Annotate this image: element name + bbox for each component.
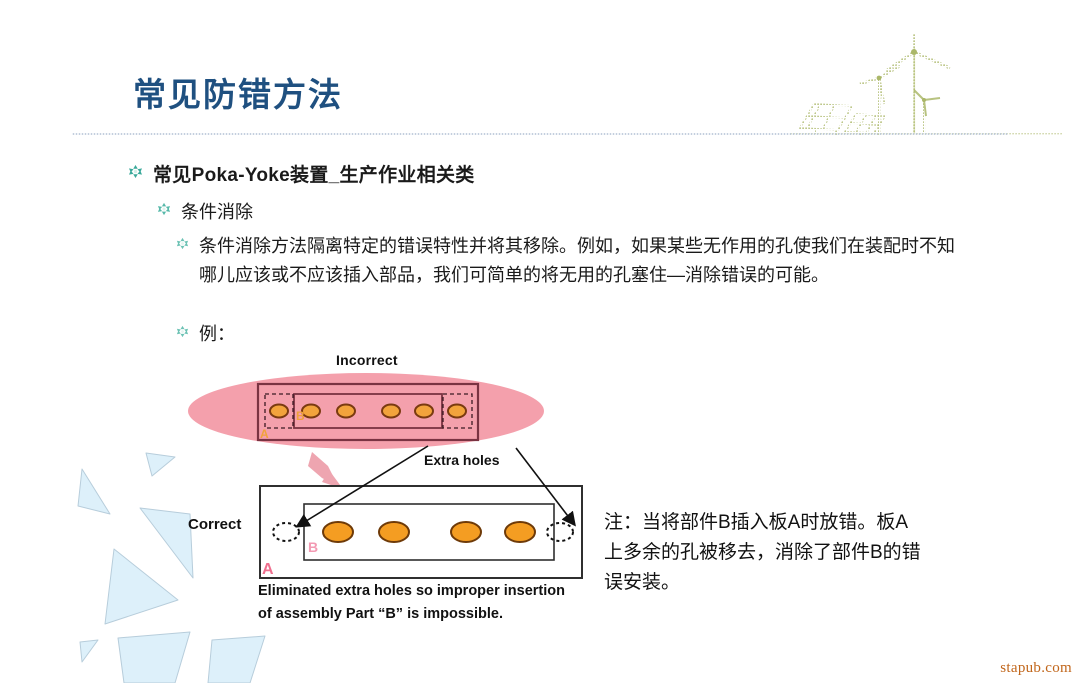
flower-bullet-icon bbox=[157, 202, 171, 216]
title-divider bbox=[72, 133, 1008, 135]
bullet-level1-label: 常见Poka-Yoke装置_生产作业相关类 bbox=[153, 160, 475, 187]
wind-turbine-solar-panel-icon bbox=[790, 28, 1070, 140]
figure-caption-line2: of assembly Part “B” is impossible. bbox=[258, 603, 598, 626]
bullet-level3-example: 例： bbox=[176, 320, 235, 346]
bullet-level2-label: 条件消除 bbox=[181, 198, 253, 224]
correct-label: Correct bbox=[188, 516, 241, 533]
figure-caption-line1: Eliminated extra holes so improper inser… bbox=[258, 580, 598, 603]
watermark: stapub.com bbox=[1000, 660, 1072, 677]
correct-part-b-label: B bbox=[308, 539, 318, 555]
correct-plate-a-label: A bbox=[262, 561, 274, 578]
page-title: 常见防错方法 bbox=[133, 68, 343, 116]
flower-bullet-icon bbox=[176, 325, 189, 338]
flower-bullet-icon bbox=[176, 237, 189, 250]
bullet-level3-text: 条件消除方法隔离特定的错误特性并将其移除。例如，如果某些无作用的孔使我们在装配时… bbox=[199, 232, 966, 290]
slide-canvas: 常见防错方法 bbox=[0, 0, 1080, 683]
bullet-level1: 常见Poka-Yoke装置_生产作业相关类 bbox=[128, 160, 475, 187]
bullet-level3-paragraph: 条件消除方法隔离特定的错误特性并将其移除。例如，如果某些无作用的孔使我们在装配时… bbox=[176, 232, 966, 290]
incorrect-part-b-label: B bbox=[296, 409, 305, 423]
extra-holes-label: Extra holes bbox=[424, 452, 499, 468]
chinese-note: 注：当将部件B插入板A时放错。板A上多余的孔被移去，消除了部件B的错误安装。 bbox=[604, 508, 924, 598]
pink-down-arrow bbox=[308, 452, 343, 489]
bullet-level3-example-label: 例： bbox=[199, 320, 235, 346]
bullet-level2: 条件消除 bbox=[157, 198, 253, 224]
flower-bullet-icon bbox=[128, 164, 143, 179]
figure-caption: Eliminated extra holes so improper inser… bbox=[258, 580, 598, 626]
incorrect-plate-a-label: A bbox=[260, 427, 269, 441]
